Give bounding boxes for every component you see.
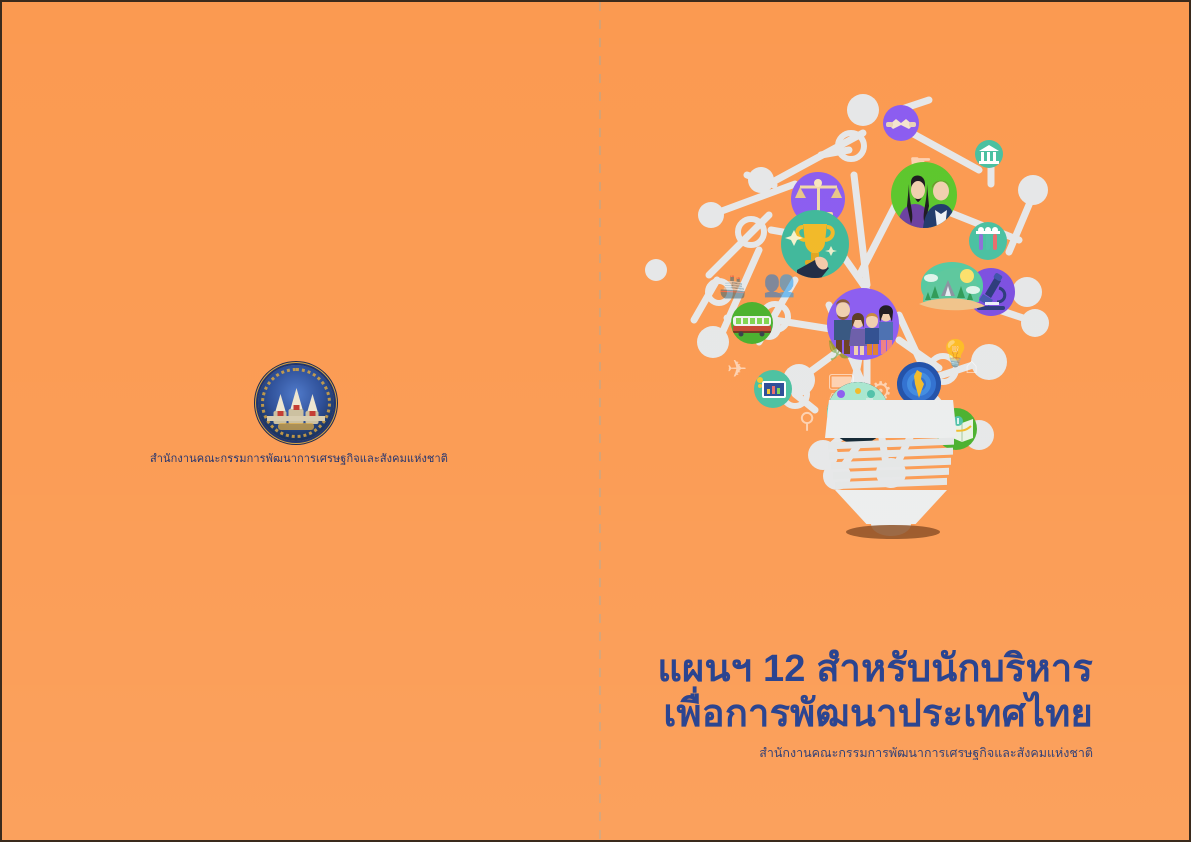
book-cover-spread: สำนักงานคณะกรรมการพัฒนาการเศรษฐกิจและสัง…: [0, 0, 1191, 842]
location-pin-icon: ⚲: [799, 410, 815, 432]
cover-title-line-1: แผนฯ 12 สำหรับนักบริหาร: [599, 647, 1093, 692]
landscape-icon: [921, 262, 983, 308]
ship-icon: 🚢: [719, 276, 746, 298]
train-icon: [731, 302, 773, 344]
house-icon: ⌂: [965, 355, 978, 377]
nesdb-royal-seal-icon: [258, 365, 334, 441]
airplane-icon: ✈: [727, 358, 747, 382]
handshake-icon: [883, 105, 919, 141]
seal-scroll-text: [278, 423, 314, 430]
couple-icon: [891, 162, 957, 228]
back-cover-organization-caption: สำนักงานคณะกรรมการพัฒนาการเศรษฐกิจและสัง…: [150, 449, 442, 467]
idea-lightbulb-network-graphic: ☛ 👥 🚢 ✈ ⚲ 🖥 🌿 ⚙ 💡 ⌂: [599, 80, 1191, 625]
lightbulb-screw-base: [825, 400, 957, 520]
bank-icon: [975, 140, 1003, 168]
front-cover: ☛ 👥 🚢 ✈ ⚲ 🖥 🌿 ⚙ 💡 ⌂: [599, 2, 1191, 842]
cover-subtitle-organization: สำนักงานคณะกรรมการพัฒนาการเศรษฐกิจและสัง…: [599, 743, 1093, 763]
chart-monitor-icon: [754, 370, 792, 408]
back-cover: สำนักงานคณะกรรมการพัฒนาการเศรษฐกิจและสัง…: [2, 2, 599, 842]
screw-base-tip: [835, 490, 947, 524]
back-cover-seal-block: สำนักงานคณะกรรมการพัฒนาการเศรษฐกิจและสัง…: [150, 365, 442, 467]
trophy-icon: [781, 210, 849, 278]
screw-base-threads: [825, 440, 957, 487]
family-icon: [827, 288, 899, 360]
front-cover-title-block: แผนฯ 12 สำหรับนักบริหาร เพื่อการพัฒนาประ…: [599, 647, 1191, 763]
network-connectors: [599, 80, 1191, 625]
test-tubes-icon: [969, 222, 1007, 260]
screw-base-top: [825, 400, 957, 438]
lightbulb-shadow: [846, 525, 940, 539]
cover-title-line-2: เพื่อการพัฒนาประเทศไทย: [599, 692, 1093, 737]
seal-pedestal: [267, 416, 325, 421]
people-group-icon: 👥: [763, 270, 795, 296]
